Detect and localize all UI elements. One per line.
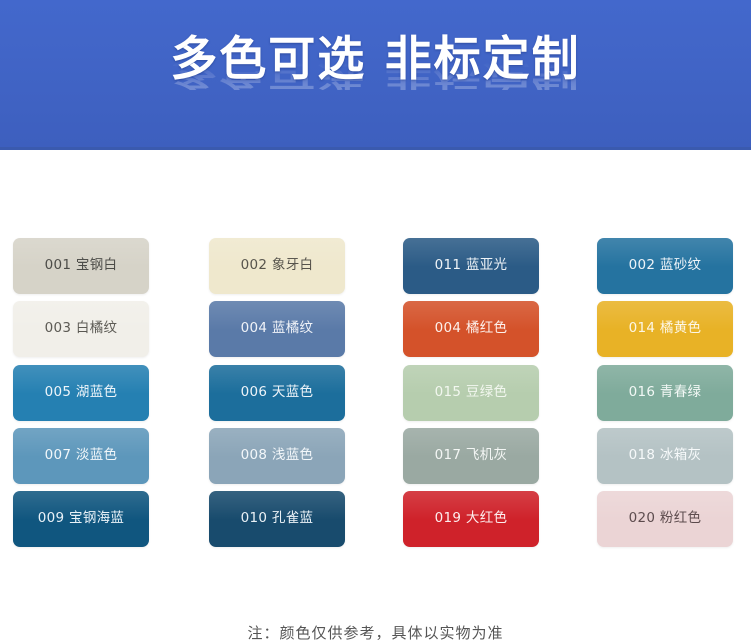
- swatch-label: 007 淡蓝色: [45, 449, 118, 463]
- color-swatch-009-宝钢海蓝[interactable]: 009 宝钢海蓝: [13, 491, 149, 547]
- swatch-label: 019 大红色: [435, 512, 508, 526]
- swatch-label: 018 冰箱灰: [629, 449, 702, 463]
- color-palette-grid: 001 宝钢白002 象牙白011 蓝亚光002 蓝砂纹003 白橘纹004 蓝…: [0, 150, 751, 600]
- color-swatch-019-大红色[interactable]: 019 大红色: [403, 491, 539, 547]
- color-swatch-008-浅蓝色[interactable]: 008 浅蓝色: [209, 428, 345, 484]
- color-swatch-016-青春绿[interactable]: 016 青春绿: [597, 365, 733, 421]
- swatch-label: 002 蓝砂纹: [629, 259, 702, 273]
- color-swatch-002-象牙白[interactable]: 002 象牙白: [209, 238, 345, 294]
- swatch-label: 004 蓝橘纹: [241, 322, 314, 336]
- swatch-label: 006 天蓝色: [241, 386, 314, 400]
- color-swatch-002-蓝砂纹[interactable]: 002 蓝砂纹: [597, 238, 733, 294]
- color-swatch-005-湖蓝色[interactable]: 005 湖蓝色: [13, 365, 149, 421]
- color-swatch-010-孔雀蓝[interactable]: 010 孔雀蓝: [209, 491, 345, 547]
- banner-title: 多色可选 非标定制: [0, 36, 751, 83]
- color-swatch-015-豆绿色[interactable]: 015 豆绿色: [403, 365, 539, 421]
- swatch-label: 004 橘红色: [435, 322, 508, 336]
- swatch-label: 009 宝钢海蓝: [38, 512, 124, 526]
- color-swatch-018-冰箱灰[interactable]: 018 冰箱灰: [597, 428, 733, 484]
- swatch-label: 020 粉红色: [629, 512, 702, 526]
- color-swatch-004-橘红色[interactable]: 004 橘红色: [403, 301, 539, 357]
- color-swatch-011-蓝亚光[interactable]: 011 蓝亚光: [403, 238, 539, 294]
- swatch-label: 017 飞机灰: [435, 449, 508, 463]
- color-swatch-014-橘黄色[interactable]: 014 橘黄色: [597, 301, 733, 357]
- palette-footnote: 注：颜色仅供参考，具体以实物为准: [0, 622, 751, 643]
- color-swatch-001-宝钢白[interactable]: 001 宝钢白: [13, 238, 149, 294]
- swatch-label: 014 橘黄色: [629, 322, 702, 336]
- swatch-label: 010 孔雀蓝: [241, 512, 314, 526]
- swatch-label: 001 宝钢白: [45, 259, 118, 273]
- color-swatch-020-粉红色[interactable]: 020 粉红色: [597, 491, 733, 547]
- color-swatch-007-淡蓝色[interactable]: 007 淡蓝色: [13, 428, 149, 484]
- swatch-label: 008 浅蓝色: [241, 449, 314, 463]
- color-swatch-006-天蓝色[interactable]: 006 天蓝色: [209, 365, 345, 421]
- swatch-label: 011 蓝亚光: [435, 259, 508, 273]
- swatch-label: 015 豆绿色: [435, 386, 508, 400]
- swatch-label: 003 白橘纹: [45, 322, 118, 336]
- header-banner: 多色可选 非标定制 多色可选 非标定制: [0, 0, 751, 150]
- swatch-label: 005 湖蓝色: [45, 386, 118, 400]
- color-swatch-017-飞机灰[interactable]: 017 飞机灰: [403, 428, 539, 484]
- swatch-label: 016 青春绿: [629, 386, 702, 400]
- swatch-label: 002 象牙白: [241, 259, 314, 273]
- color-swatch-003-白橘纹[interactable]: 003 白橘纹: [13, 301, 149, 357]
- color-swatch-004-蓝橘纹[interactable]: 004 蓝橘纹: [209, 301, 345, 357]
